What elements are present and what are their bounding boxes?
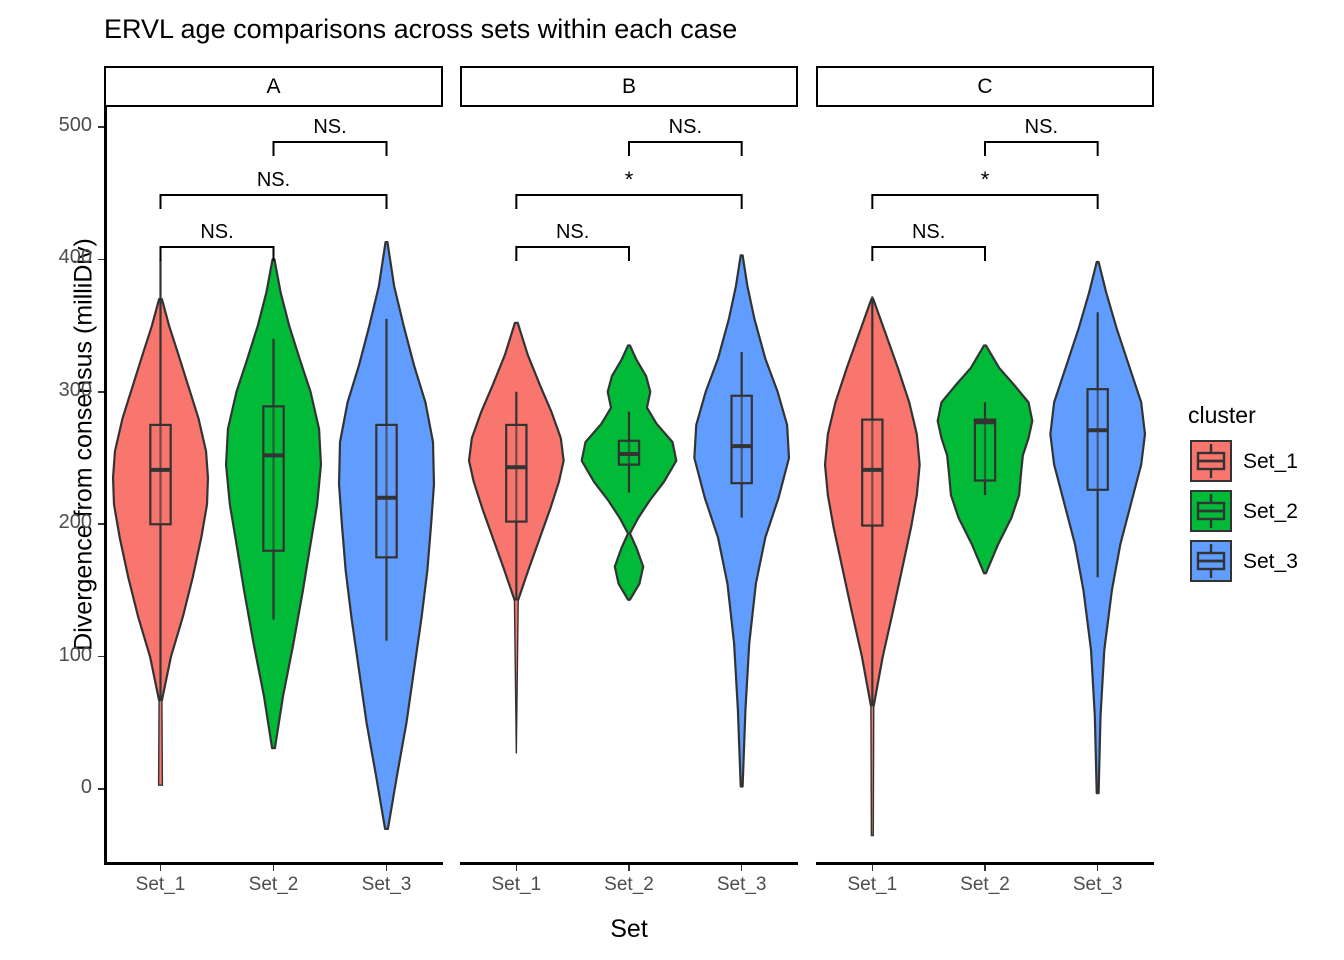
x-axis-tick-label: Set_1	[827, 874, 917, 896]
panel-C	[0, 0, 1344, 960]
legend-key-set_3[interactable]	[1190, 540, 1232, 582]
violin-tail	[871, 706, 874, 836]
boxplot-box	[862, 420, 882, 526]
x-axis-tick-label: Set_2	[584, 874, 674, 896]
x-axis-tick-mark	[273, 865, 275, 871]
x-axis-tick-mark	[1097, 865, 1099, 871]
x-axis-tick-mark	[516, 865, 518, 871]
x-axis-tick-mark	[160, 865, 162, 871]
legend-key-set_2[interactable]	[1190, 490, 1232, 532]
legend-label-set_3: Set_3	[1243, 550, 1298, 574]
legend-title: cluster	[1188, 402, 1256, 429]
significance-bracket	[872, 247, 985, 261]
x-axis-tick-label: Set_1	[116, 874, 206, 896]
x-axis-tick-label: Set_1	[471, 874, 561, 896]
x-axis-tick-mark	[628, 865, 630, 871]
boxplot-box	[975, 420, 995, 481]
x-axis-tick-mark	[984, 865, 986, 871]
x-axis-tick-label: Set_3	[342, 874, 432, 896]
x-axis-tick-label: Set_2	[940, 874, 1030, 896]
x-axis-tick-mark	[741, 865, 743, 871]
x-axis-tick-mark	[872, 865, 874, 871]
legend-label-set_1: Set_1	[1243, 450, 1298, 474]
legend-label-set_2: Set_2	[1243, 500, 1298, 524]
x-axis-tick-label: Set_3	[1053, 874, 1143, 896]
significance-bracket	[872, 195, 1097, 209]
x-axis-tick-label: Set_3	[697, 874, 787, 896]
x-axis-tick-mark	[386, 865, 388, 871]
boxplot-box	[1088, 389, 1108, 490]
legend-key-set_1[interactable]	[1190, 440, 1232, 482]
significance-bracket	[985, 142, 1098, 156]
violin-group-C-Set_3	[1050, 262, 1145, 793]
violin-group-C-Set_1	[825, 296, 920, 835]
violin-group-C-Set_2	[938, 345, 1033, 573]
x-axis-tick-label: Set_2	[229, 874, 319, 896]
chart-root: ERVL age comparisons across sets within …	[0, 0, 1344, 960]
